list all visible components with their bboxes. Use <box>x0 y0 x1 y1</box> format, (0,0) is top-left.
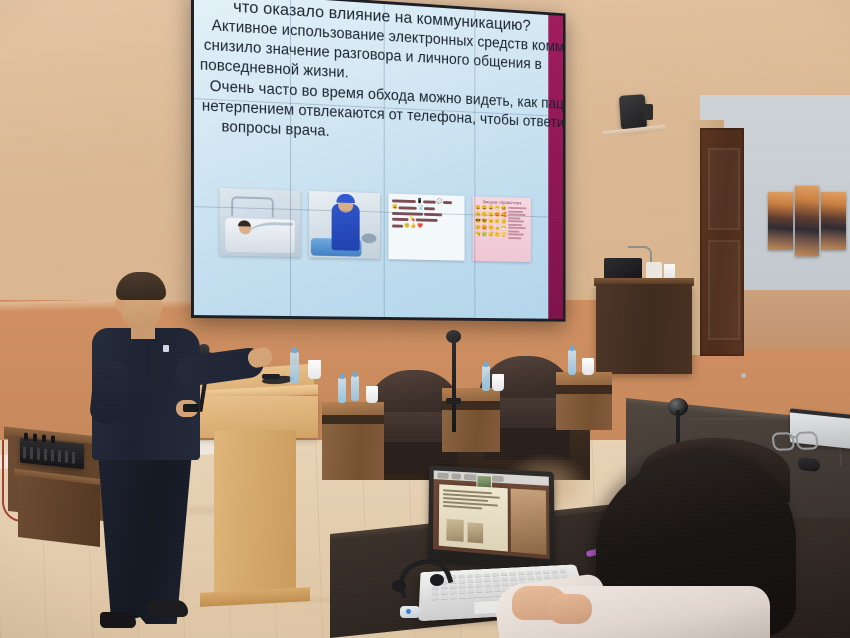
usb-led-icon <box>406 609 411 614</box>
water-bottle <box>482 366 490 391</box>
slide-text-block: что оказало влияние на коммуникацию? Акт… <box>208 0 541 151</box>
chat-line: 💊 <box>392 217 461 224</box>
door-panel-top <box>708 148 740 230</box>
wall-mounted-speaker <box>619 94 647 130</box>
paper-cup <box>308 360 321 379</box>
laptop-screen[interactable] <box>428 465 555 572</box>
headphone-earcup <box>430 574 444 586</box>
portrait-image-1 <box>446 519 463 542</box>
attendee-hand-right <box>548 594 592 624</box>
water-bottle <box>338 378 346 403</box>
chat-line: 😊👍❤️ <box>392 224 461 231</box>
emoji-grid: 😀😃😄😁😆 😊🙂😉😍🥰 😎🤓😐😕😟 😢😡🤒🤕😷 🤧🤢😴🤫🙄 <box>475 206 506 239</box>
lapel-badge <box>163 345 169 352</box>
art-panel-right <box>821 192 846 250</box>
dentist-blue-scrubs-photo <box>309 191 380 259</box>
water-bottle <box>351 376 359 401</box>
remote-control[interactable] <box>262 374 280 379</box>
lecture-hall-photo: что оказало влияние на коммуникацию? Акт… <box>0 0 850 638</box>
hospital-patient-photo <box>219 188 300 257</box>
paper-cup <box>366 386 378 403</box>
presenter-hair <box>116 272 166 300</box>
led-video-wall[interactable]: что оказало влияние на коммуникацию? Акт… <box>191 0 566 322</box>
headphone-earcup <box>392 580 406 592</box>
glasses-lens <box>795 431 819 450</box>
door-handle-icon[interactable] <box>741 373 746 378</box>
wooden-podium <box>214 430 296 602</box>
open-wooden-door[interactable] <box>700 128 744 356</box>
speaker-bracket <box>644 104 653 120</box>
water-bottle <box>290 352 299 384</box>
triptych-landscape-painting <box>768 192 846 250</box>
presenter-shoe-left <box>100 612 136 628</box>
presentation-clicker[interactable] <box>183 404 199 412</box>
chat-line: 📱 💬 <box>392 198 461 205</box>
image-thumbnail-right <box>510 488 546 554</box>
table-top <box>322 402 384 415</box>
table-band <box>556 385 612 394</box>
patient-hair <box>238 220 251 226</box>
laptop-display <box>433 470 550 559</box>
paper-cup <box>492 374 504 391</box>
headphones <box>392 560 444 596</box>
portrait-image-2 <box>468 522 484 543</box>
chat-line: 😀 🩺 <box>392 205 461 212</box>
side-table-1 <box>322 402 384 480</box>
emoji-legend <box>508 207 528 239</box>
computer-mouse[interactable] <box>798 457 820 472</box>
slide-accent-bar <box>548 15 563 319</box>
side-table-3 <box>556 372 612 430</box>
glasses-lens <box>771 432 795 451</box>
slide-image-row: 📱 💬 😀 🩺 💊 <box>219 188 536 266</box>
floor-microphone-stand <box>452 336 456 432</box>
document-pane <box>439 484 508 551</box>
eyeglasses-back <box>771 431 821 449</box>
surgical-cap <box>336 194 355 203</box>
low-table <box>18 475 100 547</box>
presentation-slide: что оказало влияние на коммуникацию? Акт… <box>194 0 563 319</box>
water-bottle <box>568 350 576 375</box>
bed-rail <box>231 196 274 217</box>
art-panel-center <box>795 186 820 257</box>
paper-cup <box>582 358 594 375</box>
medical-tube <box>249 222 293 244</box>
emoji-message-screenshot: 📱 💬 😀 🩺 💊 <box>388 193 464 260</box>
table-body <box>322 424 384 480</box>
art-panel-left <box>768 192 793 250</box>
presenter-legs <box>96 452 192 624</box>
emoji-chart-body: 😀😃😄😁😆 😊🙂😉😍🥰 😎🤓😐😕😟 😢😡🤒🤕😷 🤧🤢😴🤫🙄 <box>475 206 528 239</box>
table-band <box>322 415 384 424</box>
stool <box>362 233 377 243</box>
equipment-cabinet <box>596 284 692 374</box>
microphone-clip <box>446 398 461 404</box>
door-panel-bottom <box>708 240 740 340</box>
table-body <box>442 410 500 452</box>
table-body <box>556 394 612 430</box>
presenter-shoe-right <box>148 600 188 617</box>
emoji-legend-chart: Эмодзи справочник 😀😃😄😁😆 😊🙂😉😍🥰 😎🤓😐😕😟 😢😡🤒🤕… <box>473 196 531 262</box>
